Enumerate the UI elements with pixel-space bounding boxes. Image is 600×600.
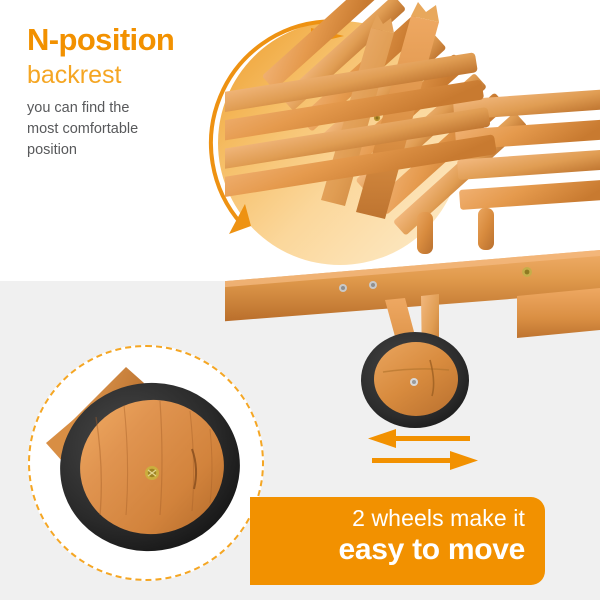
promo-banner: 2 wheels make it easy to move	[250, 497, 545, 585]
chair-transport-wheel	[361, 332, 469, 428]
arrow-left-icon	[368, 429, 470, 448]
banner-line-1: 2 wheels make it	[250, 506, 525, 532]
page-subtitle: backrest	[27, 61, 242, 90]
feature-text-block: N-position backrest you can find the mos…	[27, 24, 242, 161]
chair-end-panel	[517, 288, 600, 338]
arrow-right-icon	[372, 451, 478, 470]
callout-wheel-photo	[40, 357, 252, 569]
product-photo-lounger	[225, 0, 600, 430]
slide-direction-arrows	[368, 428, 478, 476]
wheel-screw-icon	[412, 380, 416, 384]
description-line-1: you can find the	[27, 98, 242, 119]
description-line-3: position	[27, 140, 242, 161]
chair-dowels	[417, 208, 494, 254]
page-title: N-position	[27, 24, 242, 57]
wheel-callout	[28, 345, 264, 581]
description-line-2: most comfortable	[27, 119, 242, 140]
product-feature-graphic: N-position backrest you can find the mos…	[0, 0, 600, 600]
feature-description: you can find the most comfortable positi…	[27, 98, 242, 161]
banner-line-2: easy to move	[250, 533, 525, 566]
